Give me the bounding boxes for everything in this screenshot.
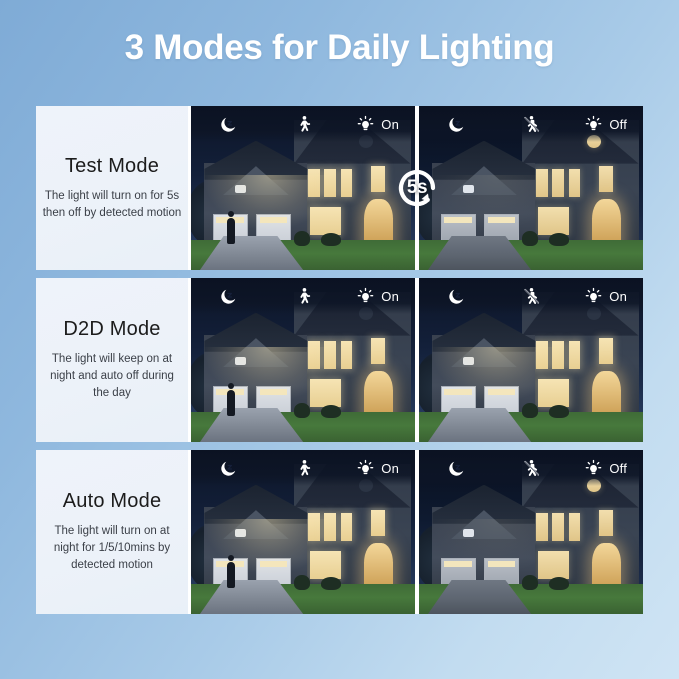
house-garage-wing bbox=[204, 507, 307, 592]
shrub bbox=[549, 233, 569, 246]
motion-indicator bbox=[266, 115, 341, 134]
no-motion-indicator bbox=[494, 115, 569, 134]
security-light-fixture bbox=[235, 185, 246, 193]
mode-description: The light will keep on at night and auto… bbox=[42, 351, 182, 401]
no-motion-person-icon bbox=[522, 459, 541, 478]
mode-photos: On bbox=[191, 450, 643, 614]
window bbox=[536, 341, 548, 369]
night-indicator bbox=[191, 115, 266, 134]
house-garage-wing bbox=[204, 163, 307, 248]
no-motion-person-icon bbox=[522, 115, 541, 134]
motion-indicator bbox=[266, 287, 341, 306]
night-indicator bbox=[419, 287, 494, 306]
security-light-fixture bbox=[463, 529, 474, 537]
shrub bbox=[549, 405, 569, 418]
mode-description: The light will turn on at night for 1/5/… bbox=[42, 523, 182, 573]
shrub bbox=[549, 577, 569, 590]
light-state-indicator: Off bbox=[568, 459, 643, 478]
lightbulb-icon bbox=[584, 115, 603, 134]
window bbox=[569, 169, 581, 197]
garage-window bbox=[260, 389, 288, 395]
window bbox=[599, 510, 613, 536]
window bbox=[371, 166, 385, 192]
window bbox=[552, 169, 564, 197]
mode-description: The light will turn on for 5s then off b… bbox=[42, 188, 182, 221]
window bbox=[552, 513, 564, 541]
security-light-fixture bbox=[235, 529, 246, 537]
walking-person-figure bbox=[227, 562, 235, 588]
light-state-label: On bbox=[609, 289, 627, 304]
photo-light-on: On bbox=[191, 278, 419, 442]
moon-sleep-icon bbox=[447, 459, 466, 478]
modes-grid: Test Mode The light will turn on for 5s … bbox=[36, 106, 643, 614]
mode-text-panel: Auto Mode The light will turn on at nigh… bbox=[36, 450, 191, 614]
window bbox=[324, 341, 336, 369]
mode-name: Auto Mode bbox=[63, 490, 162, 513]
moon-sleep-icon bbox=[219, 115, 238, 134]
status-icon-bar: Off bbox=[419, 106, 643, 142]
garage-window bbox=[444, 217, 472, 223]
shrub bbox=[294, 231, 310, 246]
photo-light-on-right: On bbox=[419, 278, 643, 442]
mode-text-panel: Test Mode The light will turn on for 5s … bbox=[36, 106, 191, 270]
window bbox=[569, 513, 581, 541]
walking-person-figure bbox=[227, 218, 235, 244]
house-garage-wing bbox=[432, 163, 535, 248]
moon-sleep-icon bbox=[219, 287, 238, 306]
garage-window bbox=[260, 217, 288, 223]
window bbox=[538, 551, 568, 579]
window bbox=[371, 510, 385, 536]
lightbulb-icon bbox=[356, 459, 375, 478]
light-state-indicator: On bbox=[340, 287, 415, 306]
no-motion-indicator bbox=[494, 459, 569, 478]
lightbulb-icon bbox=[584, 287, 603, 306]
photo-light-on: On bbox=[191, 450, 419, 614]
window bbox=[536, 513, 548, 541]
no-motion-indicator bbox=[494, 287, 569, 306]
walking-person-icon bbox=[294, 115, 313, 134]
window bbox=[371, 338, 385, 364]
window bbox=[341, 169, 353, 197]
garage-window bbox=[488, 389, 516, 395]
window bbox=[324, 169, 336, 197]
night-indicator bbox=[191, 287, 266, 306]
light-state-label: On bbox=[381, 461, 399, 476]
moon-sleep-icon bbox=[447, 287, 466, 306]
status-icon-bar: On bbox=[419, 278, 643, 314]
shrub bbox=[522, 575, 538, 590]
shrub bbox=[321, 233, 341, 246]
security-light-fixture bbox=[463, 185, 474, 193]
shrub bbox=[321, 577, 341, 590]
shrub bbox=[294, 403, 310, 418]
window bbox=[552, 341, 564, 369]
mode-row: Test Mode The light will turn on for 5s … bbox=[36, 106, 643, 270]
shrub bbox=[321, 405, 341, 418]
shrub bbox=[522, 231, 538, 246]
moon-sleep-icon bbox=[219, 459, 238, 478]
window bbox=[310, 379, 340, 407]
window bbox=[341, 341, 353, 369]
window bbox=[569, 341, 581, 369]
garage-window bbox=[488, 561, 516, 567]
mode-row: D2D Mode The light will keep on at night… bbox=[36, 278, 643, 442]
walking-person-icon bbox=[294, 459, 313, 478]
garage-window bbox=[444, 561, 472, 567]
security-light-fixture bbox=[463, 357, 474, 365]
lightbulb-icon bbox=[584, 459, 603, 478]
status-icon-bar: On bbox=[191, 106, 415, 142]
window bbox=[310, 207, 340, 235]
photo-light-off: Off bbox=[419, 450, 643, 614]
walking-person-icon bbox=[294, 287, 313, 306]
photo-light-on: On bbox=[191, 106, 419, 270]
walking-person-figure bbox=[227, 390, 235, 416]
shrub bbox=[294, 575, 310, 590]
house-garage-wing bbox=[432, 507, 535, 592]
window bbox=[538, 379, 568, 407]
mode-text-panel: D2D Mode The light will keep on at night… bbox=[36, 278, 191, 442]
window bbox=[538, 207, 568, 235]
status-icon-bar: Off bbox=[419, 450, 643, 486]
window bbox=[599, 338, 613, 364]
night-indicator bbox=[419, 115, 494, 134]
timer-badge-label: 5s bbox=[407, 177, 427, 199]
mode-name: Test Mode bbox=[65, 155, 159, 178]
window bbox=[308, 513, 320, 541]
house-garage-wing bbox=[204, 335, 307, 420]
motion-indicator bbox=[266, 459, 341, 478]
light-state-indicator: On bbox=[568, 287, 643, 306]
light-state-indicator: Off bbox=[568, 115, 643, 134]
photo-light-off: Off bbox=[419, 106, 643, 270]
light-state-label: Off bbox=[609, 461, 627, 476]
window bbox=[308, 169, 320, 197]
window bbox=[324, 513, 336, 541]
window bbox=[310, 551, 340, 579]
garage-window bbox=[260, 561, 288, 567]
garage-window bbox=[488, 217, 516, 223]
lightbulb-icon bbox=[356, 115, 375, 134]
mode-row: Auto Mode The light will turn on at nigh… bbox=[36, 450, 643, 614]
mode-photos: On bbox=[191, 278, 643, 442]
moon-sleep-icon bbox=[447, 115, 466, 134]
security-light-fixture bbox=[235, 357, 246, 365]
window bbox=[599, 166, 613, 192]
light-state-indicator: On bbox=[340, 459, 415, 478]
night-indicator bbox=[419, 459, 494, 478]
garage-window bbox=[444, 389, 472, 395]
page-title: 3 Modes for Daily Lighting bbox=[0, 28, 679, 68]
window bbox=[341, 513, 353, 541]
house-garage-wing bbox=[432, 335, 535, 420]
no-motion-person-icon bbox=[522, 287, 541, 306]
light-state-indicator: On bbox=[340, 115, 415, 134]
light-state-label: Off bbox=[609, 117, 627, 132]
window bbox=[536, 169, 548, 197]
night-indicator bbox=[191, 459, 266, 478]
light-state-label: On bbox=[381, 289, 399, 304]
mode-name: D2D Mode bbox=[63, 318, 160, 341]
status-icon-bar: On bbox=[191, 278, 415, 314]
mode-photos: On bbox=[191, 106, 643, 270]
window bbox=[308, 341, 320, 369]
status-icon-bar: On bbox=[191, 450, 415, 486]
shrub bbox=[522, 403, 538, 418]
timer-badge: 5s bbox=[389, 160, 445, 216]
lightbulb-icon bbox=[356, 287, 375, 306]
light-state-label: On bbox=[381, 117, 399, 132]
